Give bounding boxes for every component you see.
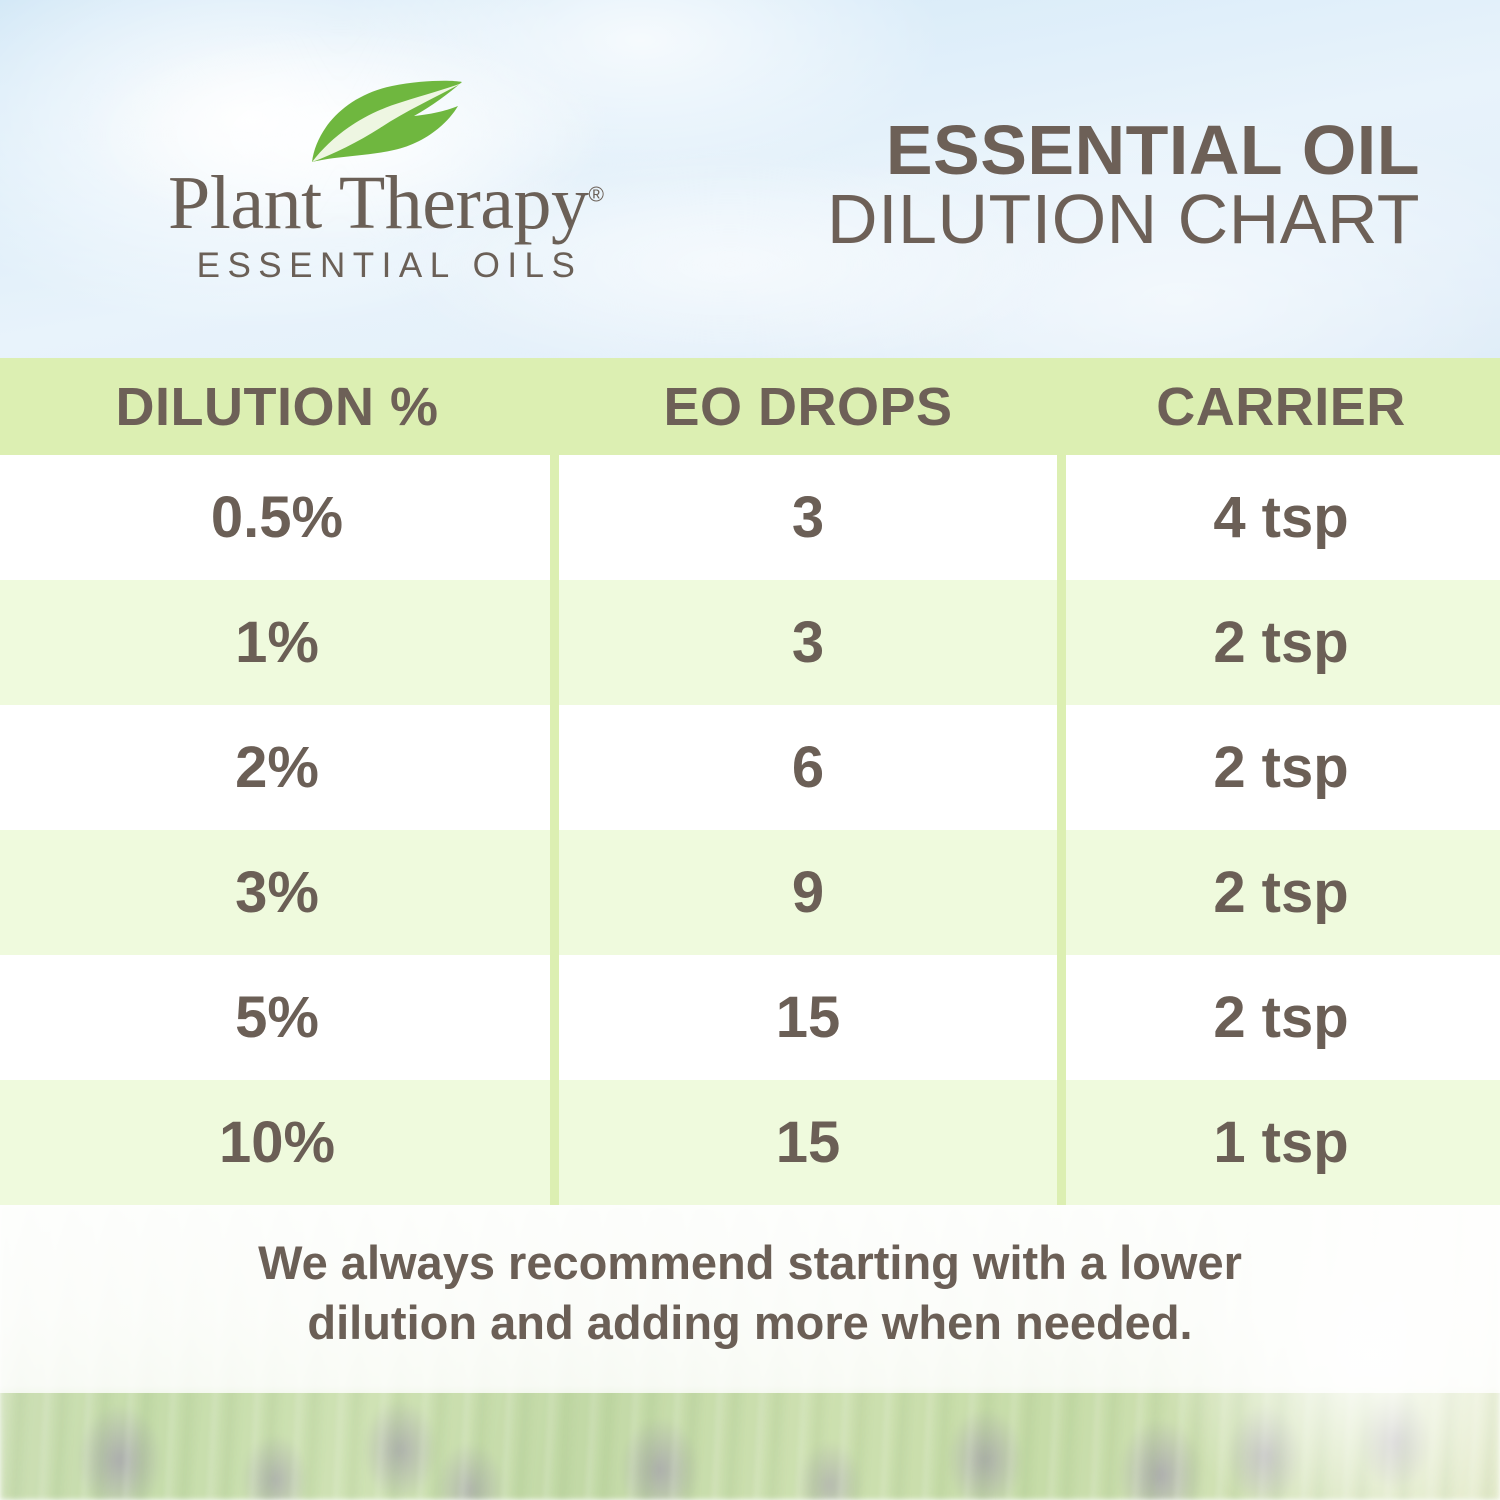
cell-carrier: 4 tsp [1062, 484, 1500, 551]
table-body: 0.5% 3 4 tsp 1% 3 2 tsp 2% 6 2 tsp 3% 9 … [0, 455, 1500, 1205]
cell-dilution: 2% [0, 734, 554, 801]
page-title: ESSENTIAL OIL DILUTION CHART [740, 118, 1420, 255]
table-row: 10% 15 1 tsp [0, 1080, 1500, 1205]
column-divider-1 [550, 455, 559, 1205]
table-row: 5% 15 2 tsp [0, 955, 1500, 1080]
table-row: 3% 9 2 tsp [0, 830, 1500, 955]
footer-band: We always recommend starting with a lowe… [0, 1205, 1500, 1500]
column-header-carrier: CARRIER [1062, 376, 1500, 438]
table-row: 1% 3 2 tsp [0, 580, 1500, 705]
registered-mark: ® [589, 184, 604, 207]
page-title-line2: DILUTION CHART [740, 184, 1420, 255]
cell-eo-drops: 15 [554, 1109, 1062, 1176]
brand-tagline: ESSENTIAL OILS [96, 246, 676, 286]
footer-note: We always recommend starting with a lowe… [0, 1233, 1500, 1353]
column-header-eo-drops: EO DROPS [554, 376, 1062, 438]
cell-dilution: 5% [0, 984, 554, 1051]
brand-name: Plant Therapy® [168, 166, 604, 240]
dilution-chart-infographic: Plant Therapy® ESSENTIAL OILS ESSENTIAL … [0, 0, 1500, 1500]
cell-dilution: 1% [0, 609, 554, 676]
brand-name-text: Plant Therapy [168, 161, 589, 245]
leaf-icon [306, 78, 466, 164]
cell-carrier: 2 tsp [1062, 734, 1500, 801]
cell-dilution: 10% [0, 1109, 554, 1176]
page-title-line1: ESSENTIAL OIL [740, 118, 1420, 184]
cell-eo-drops: 3 [554, 484, 1062, 551]
brand-logo: Plant Therapy® ESSENTIAL OILS [96, 78, 676, 286]
cell-carrier: 2 tsp [1062, 859, 1500, 926]
cell-eo-drops: 3 [554, 609, 1062, 676]
cell-eo-drops: 6 [554, 734, 1062, 801]
cell-carrier: 1 tsp [1062, 1109, 1500, 1176]
column-header-dilution: DILUTION % [0, 376, 554, 438]
dilution-table: DILUTION % EO DROPS CARRIER 0.5% 3 4 tsp… [0, 358, 1500, 1205]
column-divider-2 [1057, 455, 1066, 1205]
cell-dilution: 0.5% [0, 484, 554, 551]
cell-dilution: 3% [0, 859, 554, 926]
cell-eo-drops: 15 [554, 984, 1062, 1051]
table-header-row: DILUTION % EO DROPS CARRIER [0, 358, 1500, 455]
cell-eo-drops: 9 [554, 859, 1062, 926]
cell-carrier: 2 tsp [1062, 609, 1500, 676]
table-row: 0.5% 3 4 tsp [0, 455, 1500, 580]
table-row: 2% 6 2 tsp [0, 705, 1500, 830]
cell-carrier: 2 tsp [1062, 984, 1500, 1051]
